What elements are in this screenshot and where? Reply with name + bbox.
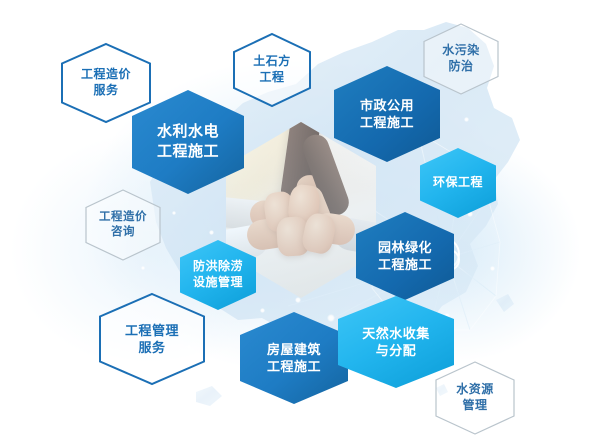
infographic-canvas: 工程造价 服务土石方 工程水利水电 工程施工市政公用 工程施工水污染 防治环保工… — [0, 0, 600, 439]
sparkle-dot — [363, 401, 369, 407]
sparkle-dot — [464, 117, 469, 122]
hex-badge-gongcheng-zaojia-zixun[interactable]: 工程造价 咨询 — [86, 190, 160, 260]
hex-badge-gongcheng-guanli-fuwu[interactable]: 工程管理 服务 — [100, 294, 204, 384]
hex-badge-huanbao-gongcheng[interactable]: 环保工程 — [420, 148, 496, 218]
sparkle-dot — [209, 230, 214, 235]
sparkle-dot — [490, 266, 495, 271]
sparkle-dot — [141, 266, 145, 270]
hex-badge-shuili-shuidian-gongcheng-shigong[interactable]: 水利水电 工程施工 — [132, 90, 244, 194]
hex-badge-fangwu-jianzhu-gongcheng-shigong[interactable]: 房屋建筑 工程施工 — [240, 312, 348, 404]
hex-badge-yuanlin-lvhua-gongcheng-shigong[interactable]: 园林绿化 工程施工 — [356, 212, 454, 300]
sparkle-dot — [172, 211, 176, 215]
hex-badge-shuiziyuan-guanli[interactable]: 水资源 管理 — [436, 362, 514, 434]
sparkle-dot — [295, 297, 301, 303]
sparkle-dot — [226, 401, 233, 408]
hex-badge-shuiwuran-fangzhi[interactable]: 水污染 防治 — [424, 24, 498, 94]
hex-badge-tushifang-gongcheng[interactable]: 土石方 工程 — [234, 34, 310, 106]
